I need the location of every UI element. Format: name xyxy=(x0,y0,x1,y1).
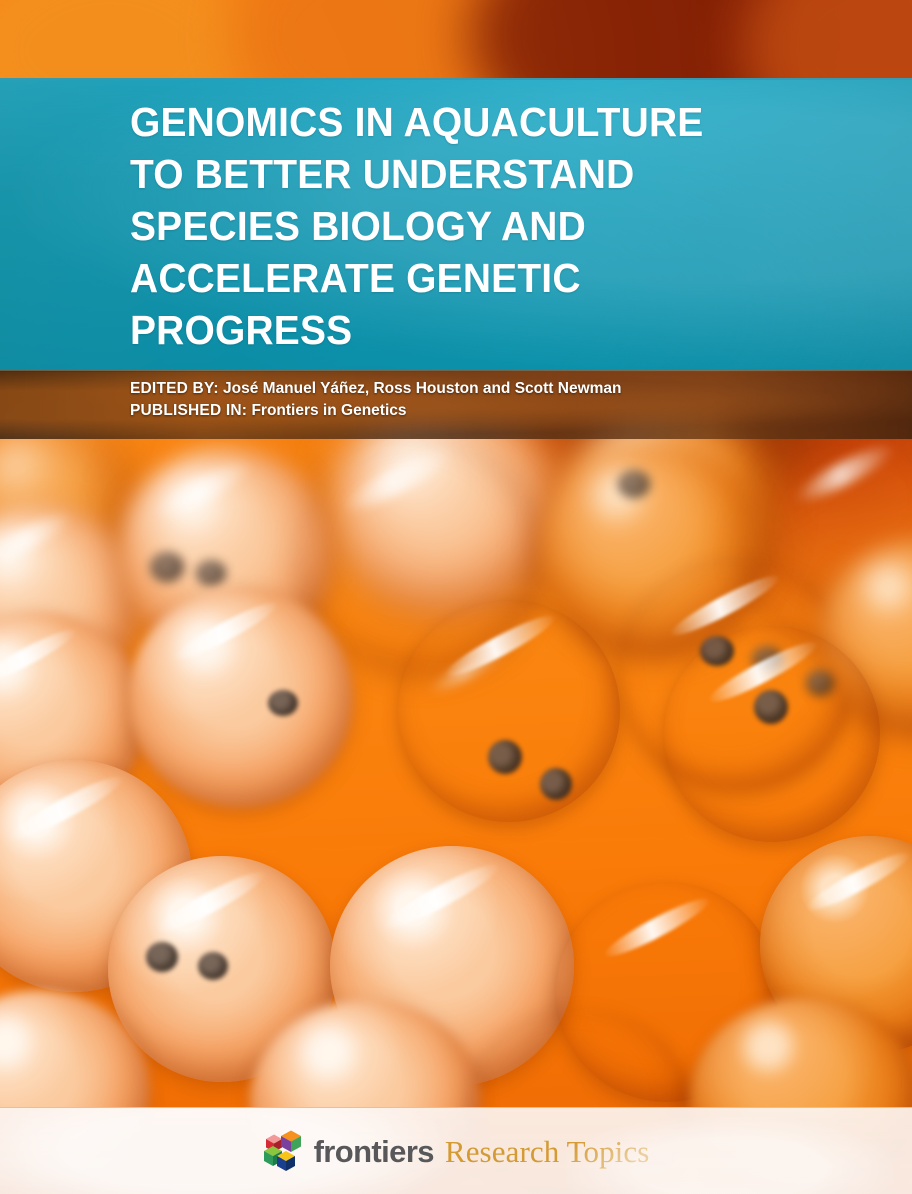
credits-block: EDITED BY: José Manuel Yáñez, Ross Houst… xyxy=(130,378,622,422)
edited-by-label: EDITED BY: xyxy=(130,380,219,397)
egg-eye-spot xyxy=(146,942,178,972)
egg-eye-spot xyxy=(196,560,226,586)
edited-by-line: EDITED BY: José Manuel Yáñez, Ross Houst… xyxy=(130,378,622,400)
edited-by-value: José Manuel Yáñez, Ross Houston and Scot… xyxy=(223,380,622,397)
frontiers-cubes-logo-icon xyxy=(263,1129,303,1173)
published-in-value: Frontiers in Genetics xyxy=(251,402,406,419)
frontiers-wordmark: frontiers xyxy=(314,1136,434,1167)
page-title: GENOMICS IN AQUACULTURE TO BETTER UNDERS… xyxy=(130,96,776,356)
egg-eye-spot xyxy=(754,690,788,724)
egg-eye-spot xyxy=(618,470,650,498)
egg-eye-spot xyxy=(198,952,228,980)
egg-eye-spot xyxy=(268,690,298,716)
research-topics-label: Research Topics xyxy=(445,1136,650,1167)
book-cover: GENOMICS IN AQUACULTURE TO BETTER UNDERS… xyxy=(0,0,912,1194)
published-in-line: PUBLISHED IN: Frontiers in Genetics xyxy=(130,400,622,422)
cover-footer: frontiers Research Topics xyxy=(0,1107,912,1194)
frontiers-logo: frontiers Research Topics xyxy=(0,1129,912,1173)
published-in-label: PUBLISHED IN: xyxy=(130,402,247,419)
egg-eye-spot xyxy=(150,552,184,582)
egg-eye-spot xyxy=(806,670,834,696)
